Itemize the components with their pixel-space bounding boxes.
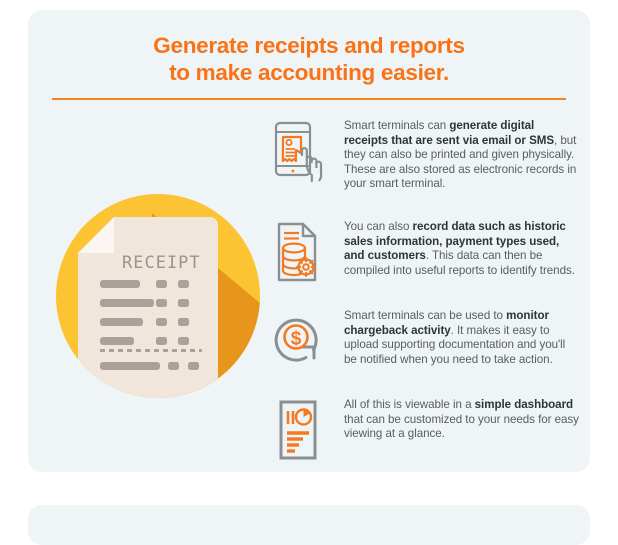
feature-row: $ Smart terminals can be used to monitor… <box>271 309 581 367</box>
receipt-bar <box>100 280 140 288</box>
receipt-square <box>178 299 189 307</box>
receipt-square <box>188 362 199 370</box>
feature-text: Smart terminals can generate digital rec… <box>344 119 581 192</box>
feature-text: Smart terminals can be used to monitor c… <box>344 309 581 367</box>
receipt-bar <box>100 337 134 345</box>
main-content-card: Generate receipts and reports to make ac… <box>28 10 590 472</box>
receipt-square <box>178 318 189 326</box>
title-line-1: Generate receipts and reports <box>28 32 590 59</box>
page-title: Generate receipts and reports to make ac… <box>28 32 590 86</box>
receipt-bar <box>100 299 154 307</box>
receipt-square <box>178 280 189 288</box>
hero-circle-background: RECEIPT <box>56 194 260 398</box>
receipt-square <box>168 362 179 370</box>
content-area: RECEIPT <box>28 110 590 472</box>
chargeback-refresh-dollar-icon: $ <box>271 309 325 367</box>
feature-text: All of this is viewable in a simple dash… <box>344 398 581 442</box>
receipt-square <box>156 299 167 307</box>
receipt-dashed-separator <box>100 349 202 352</box>
smart-terminal-receipt-icon <box>271 119 325 183</box>
receipt-square <box>156 280 167 288</box>
receipt-total-bar <box>100 362 160 370</box>
svg-text:$: $ <box>291 329 302 350</box>
title-line-2: to make accounting easier. <box>28 59 590 86</box>
receipt-square <box>156 318 167 326</box>
feature-row: All of this is viewable in a simple dash… <box>271 398 581 460</box>
dashboard-report-icon <box>271 398 325 460</box>
receipt-bar <box>100 318 143 326</box>
feature-row: Smart terminals can generate digital rec… <box>271 119 581 192</box>
data-records-document-icon <box>271 220 325 282</box>
title-divider <box>52 98 566 100</box>
next-content-card <box>28 505 590 545</box>
feature-row: You can also record data such as histori… <box>271 220 581 282</box>
receipt-square <box>156 337 167 345</box>
receipt-label: RECEIPT <box>122 253 201 273</box>
receipt-paper: RECEIPT <box>78 217 218 398</box>
receipt-illustration: RECEIPT <box>56 194 260 398</box>
receipt-square <box>178 337 189 345</box>
feature-text: You can also record data such as histori… <box>344 220 581 278</box>
